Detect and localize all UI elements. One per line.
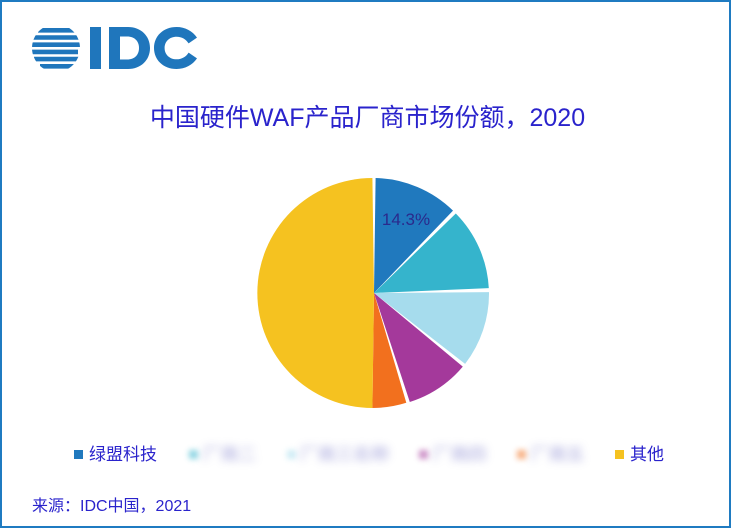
legend-swatch-icon-2 — [287, 450, 296, 459]
legend-swatch-icon-0 — [74, 450, 83, 459]
chart-legend: 绿盟科技 厂商二 厂商三名称 厂商四 厂商五 其他 — [74, 439, 664, 469]
legend-swatch-icon-4 — [517, 450, 526, 459]
legend-label-4: 厂商五 — [531, 446, 585, 463]
pie-chart: 14.3% — [250, 169, 500, 417]
slide-canvas: 中国硬件WAF产品厂商市场份额，2020 14.3% 绿盟科技 厂商二 — [0, 0, 731, 528]
pie-slices — [257, 178, 489, 408]
legend-label-3: 厂商四 — [433, 446, 487, 463]
pie-chart-svg: 14.3% — [250, 169, 500, 417]
idc-logo — [30, 20, 200, 76]
legend-item-2[interactable]: 厂商三名称 — [287, 446, 387, 463]
legend-label-0: 绿盟科技 — [89, 446, 157, 463]
legend-label-5: 其他 — [630, 446, 664, 463]
legend-label-1: 厂商二 — [203, 446, 257, 463]
legend-swatch-icon-1 — [189, 450, 198, 459]
pie-data-label-0: 14.3% — [382, 210, 430, 229]
source-note: 来源：IDC中国，2021 — [32, 492, 191, 516]
legend-item-0[interactable]: 绿盟科技 — [74, 446, 157, 463]
legend-item-5[interactable]: 其他 — [615, 446, 664, 463]
idc-wordmark — [90, 27, 197, 69]
legend-swatch-icon-5 — [615, 450, 624, 459]
chart-title: 中国硬件WAF产品厂商市场份额，2020 — [2, 98, 731, 134]
legend-item-3[interactable]: 厂商四 — [419, 446, 485, 463]
idc-logo-icon — [30, 20, 200, 76]
legend-item-1[interactable]: 厂商二 — [189, 446, 255, 463]
legend-swatch-icon-3 — [419, 450, 428, 459]
pie-slice-5[interactable] — [257, 178, 374, 408]
legend-label-2: 厂商三名称 — [300, 446, 389, 463]
globe-icon — [30, 28, 82, 69]
legend-item-4[interactable]: 厂商五 — [517, 446, 583, 463]
